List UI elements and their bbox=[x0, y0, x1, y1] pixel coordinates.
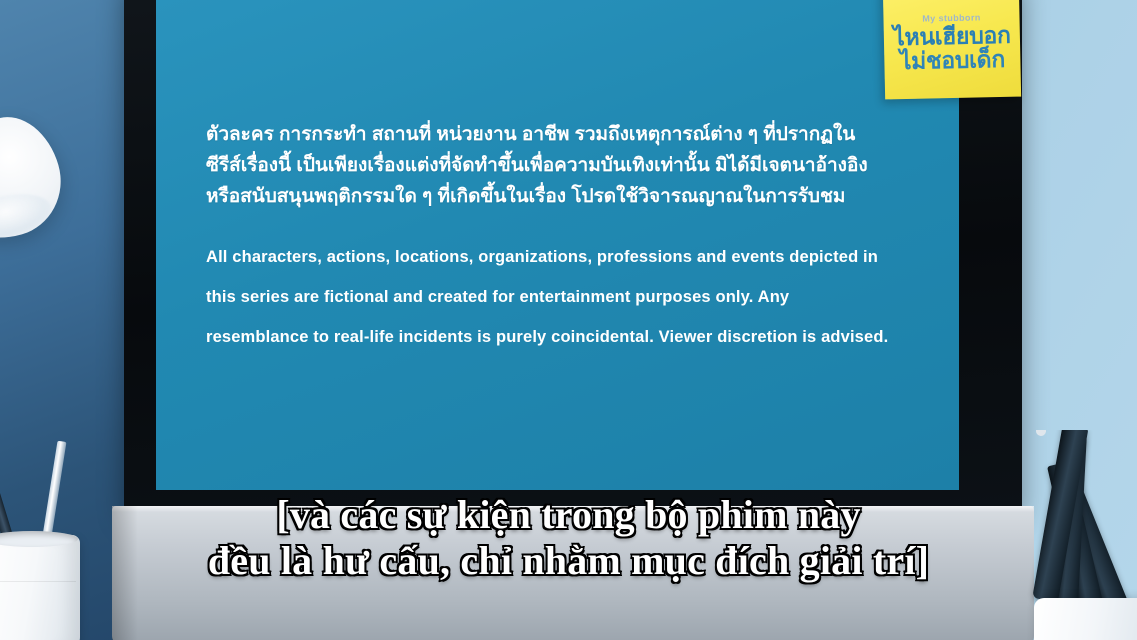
disclaimer-english-line: All characters, actions, locations, orga… bbox=[206, 238, 918, 278]
disclaimer-thai-line: ซีรีส์เรื่องนี้ เป็นเพียงเรื่องแต่งที่จั… bbox=[206, 151, 918, 182]
disclaimer-thai: ตัวละคร การกระทำ สถานที่ หน่วยงาน อาชีพ … bbox=[206, 120, 918, 212]
disclaimer-thai-line: หรือสนับสนุนพฤติกรรมใด ๆ ที่เกิดขึ้นในเร… bbox=[206, 182, 918, 213]
pen-cup-left bbox=[0, 535, 80, 640]
disclaimer-text-block: ตัวละคร การกระทำ สถานที่ หน่วยงาน อาชีพ … bbox=[206, 120, 918, 358]
series-logo-thai-line-2: ไม่ชอบเด็ก bbox=[884, 47, 1020, 74]
series-logo: My stubborn ไหนเฮียบอก ไม่ชอบเด็ก bbox=[883, 13, 1020, 74]
sticky-note-logo: My stubborn ไหนเฮียบอก ไม่ชอบเด็ก bbox=[883, 0, 1021, 99]
disclaimer-english-line: this series are fictional and created fo… bbox=[206, 278, 918, 318]
disclaimer-english: All characters, actions, locations, orga… bbox=[206, 238, 918, 358]
monitor-stand bbox=[112, 506, 1034, 640]
monitor-screen: ตัวละคร การกระทำ สถานที่ หน่วยงาน อาชีพ … bbox=[156, 0, 959, 490]
monitor-stand-highlight bbox=[112, 506, 1034, 512]
monitor-stand-shadow bbox=[112, 506, 138, 640]
disclaimer-english-line: resemblance to real-life incidents is pu… bbox=[206, 318, 918, 358]
video-frame: ตัวละคร การกระทำ สถานที่ หน่วยงาน อาชีพ … bbox=[0, 0, 1137, 640]
pen-cup-right bbox=[1034, 598, 1137, 640]
pen-right-tip-highlight bbox=[1035, 430, 1047, 437]
disclaimer-thai-line: ตัวละคร การกระทำ สถานที่ หน่วยงาน อาชีพ … bbox=[206, 120, 918, 151]
